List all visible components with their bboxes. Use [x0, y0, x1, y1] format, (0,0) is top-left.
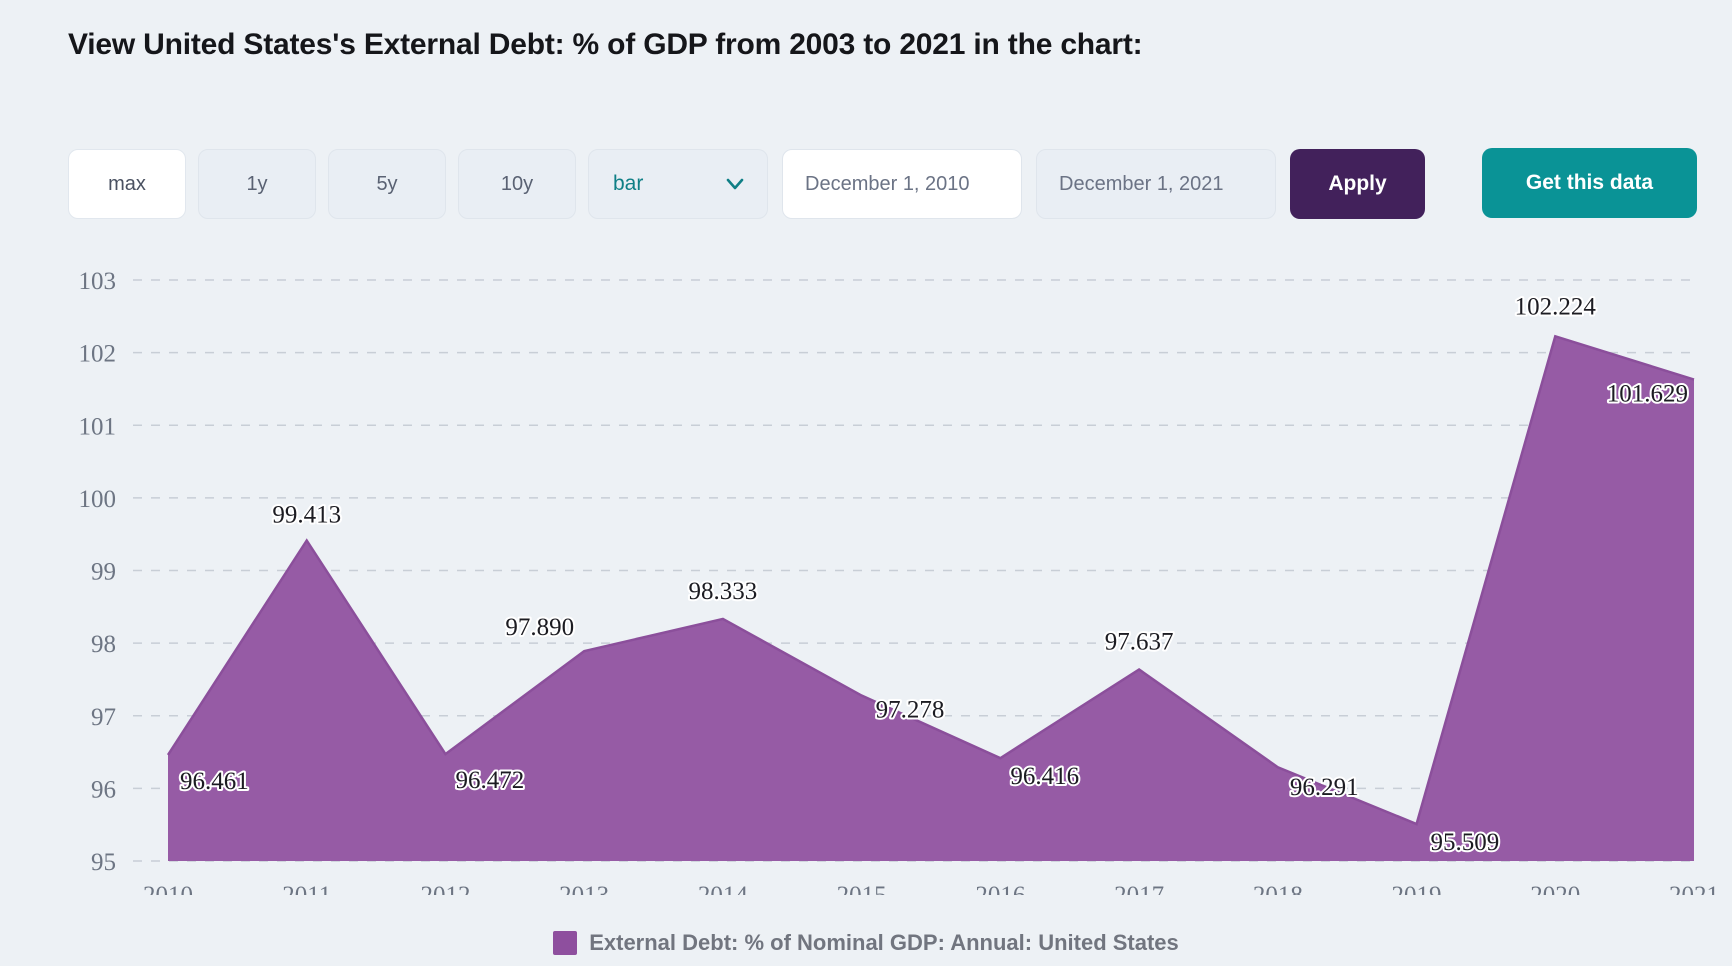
chart-container: 9596979899100101102103 20102011201220132…	[0, 255, 1732, 895]
y-axis-tick-label: 97	[91, 704, 116, 731]
chart-legend: External Debt: % of Nominal GDP: Annual:…	[0, 930, 1732, 956]
y-axis-tick-label: 102	[79, 341, 117, 368]
x-axis-tick-label: 2017	[1114, 882, 1164, 895]
apply-button[interactable]: Apply	[1290, 149, 1425, 219]
apply-button-label: Apply	[1328, 172, 1386, 196]
range-button-10y[interactable]: 10y	[458, 149, 576, 219]
data-point-label: 97.278	[876, 697, 945, 724]
y-axis-tick-label: 99	[91, 559, 116, 586]
data-point-label: 98.333	[689, 578, 758, 605]
chart-toolbar: max 1y 5y 10y bar December 1, 2010 Decem…	[68, 148, 1425, 220]
y-axis-tick-label: 101	[79, 413, 117, 440]
range-button-max[interactable]: max	[68, 149, 186, 219]
x-axis-tick-label: 2020	[1530, 882, 1580, 895]
y-axis-tick-label: 103	[79, 268, 117, 295]
data-point-label: 102.224	[1515, 293, 1597, 320]
x-axis-tick-label: 2018	[1253, 882, 1303, 895]
data-point-label: 97.637	[1105, 628, 1174, 655]
x-axis-tick-label: 2021	[1669, 882, 1719, 895]
chart-type-value: bar	[613, 172, 643, 196]
chevron-down-icon	[725, 174, 745, 194]
range-button-max-label: max	[108, 173, 146, 196]
area-chart: 9596979899100101102103 20102011201220132…	[0, 255, 1732, 895]
chart-type-select[interactable]: bar	[588, 149, 768, 219]
range-button-5y-label: 5y	[376, 173, 397, 196]
y-axis-tick-label: 98	[91, 631, 116, 658]
chart-x-axis: 2010201120122013201420152016201720182019…	[143, 882, 1719, 895]
y-axis-tick-label: 100	[79, 486, 117, 513]
legend-label: External Debt: % of Nominal GDP: Annual:…	[589, 930, 1179, 956]
end-date-input[interactable]: December 1, 2021	[1036, 149, 1276, 219]
data-point-label: 96.472	[455, 767, 524, 794]
end-date-value: December 1, 2021	[1059, 173, 1224, 196]
start-date-value: December 1, 2010	[805, 173, 970, 196]
x-axis-tick-label: 2015	[837, 882, 887, 895]
get-this-data-label: Get this data	[1526, 171, 1653, 195]
data-point-label: 97.890	[505, 614, 574, 641]
range-button-1y[interactable]: 1y	[198, 149, 316, 219]
x-axis-tick-label: 2011	[282, 882, 331, 895]
y-axis-tick-label: 96	[91, 776, 116, 803]
start-date-input[interactable]: December 1, 2010	[782, 149, 1022, 219]
legend-swatch	[553, 931, 577, 955]
x-axis-tick-label: 2012	[420, 882, 470, 895]
data-point-label: 99.413	[272, 502, 341, 529]
data-point-label: 96.416	[1010, 763, 1079, 790]
x-axis-tick-label: 2010	[143, 882, 193, 895]
x-axis-tick-label: 2019	[1392, 882, 1442, 895]
chart-y-axis: 9596979899100101102103	[79, 268, 117, 876]
range-button-1y-label: 1y	[246, 173, 267, 196]
data-point-label: 101.629	[1607, 381, 1688, 408]
area-series-fill	[168, 336, 1694, 861]
data-point-label: 96.291	[1290, 774, 1359, 801]
get-this-data-button[interactable]: Get this data	[1482, 148, 1697, 218]
x-axis-tick-label: 2016	[975, 882, 1025, 895]
range-button-5y[interactable]: 5y	[328, 149, 446, 219]
x-axis-tick-label: 2013	[559, 882, 609, 895]
data-point-label: 95.509	[1431, 829, 1500, 856]
range-button-10y-label: 10y	[501, 173, 533, 196]
y-axis-tick-label: 95	[91, 849, 116, 876]
x-axis-tick-label: 2014	[698, 882, 749, 895]
page-title: View United States's External Debt: % of…	[68, 28, 1142, 62]
data-point-label: 96.461	[180, 768, 249, 795]
